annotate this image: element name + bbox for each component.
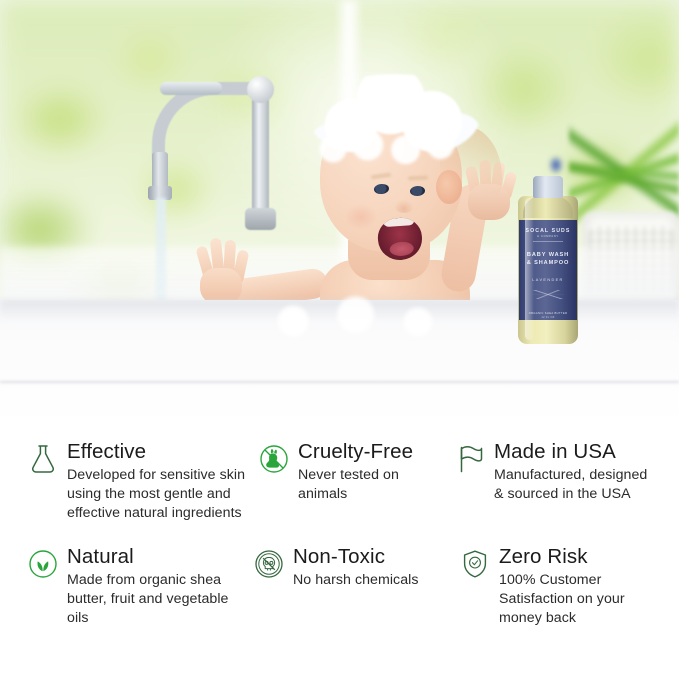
feature-title: Made in USA [494,440,659,464]
hero-photo: SOCAL SUDS & COMPANY BABY WASH & SHAMPOO… [0,0,679,424]
no-skull-icon [252,547,286,581]
feature-desc: Developed for sensitive skin using the m… [67,466,257,523]
baby-left-hand [194,234,246,304]
feature-desc: Made from organic shea butter, fruit and… [67,571,252,628]
no-rabbit-icon [257,442,291,476]
product-bottle: SOCAL SUDS & COMPANY BABY WASH & SHAMPOO… [517,176,579,344]
baby-ear [436,170,462,204]
baby-brow-left [371,173,391,180]
feature-desc: Never tested on animals [298,466,413,504]
feature-title: Zero Risk [499,545,667,569]
flask-icon [26,442,60,476]
feature-title: Effective [67,440,257,464]
baby-eye-right [410,185,426,196]
feature-desc: No harsh chemicals [293,571,458,590]
baby-eye-left [374,183,390,195]
soap-foam-edge [314,132,472,166]
bath-bubbles [250,296,490,338]
bottle-cap [533,176,563,198]
sink-edge-line [0,381,679,384]
baby-cheek [344,204,378,230]
feature-cruelty-free: Cruelty-Free Never tested on animals [257,440,453,523]
label-divider [533,241,563,242]
shield-check-icon [458,547,492,581]
baby-brow-right [408,175,428,180]
feature-desc: Manufactured, designed & sourced in the … [494,466,659,504]
product-infographic: SOCAL SUDS & COMPANY BABY WASH & SHAMPOO… [0,0,679,679]
feature-title: Natural [67,545,252,569]
faucet-spout [152,82,262,160]
feature-title: Cruelty-Free [298,440,413,464]
feature-zero-risk: Zero Risk 100% Customer Satisfaction on … [458,545,658,628]
feature-row-1: Effective Developed for sensitive skin u… [26,440,653,523]
feature-effective: Effective Developed for sensitive skin u… [26,440,257,523]
blue-flower [548,155,564,175]
lavender-sprig-icon [532,290,564,299]
feature-natural: Natural Made from organic shea butter, f… [26,545,252,628]
feature-non-toxic: Non-Toxic No harsh chemicals [252,545,458,628]
bottle-gloss [525,198,534,340]
feature-row-2: Natural Made from organic shea butter, f… [26,545,653,628]
baby-nose [394,200,414,213]
faucet-downspout [152,152,168,188]
leaf-circle-icon [26,547,60,581]
flag-icon [453,442,487,476]
faucet-handle [252,88,269,220]
feature-panel: Effective Developed for sensitive skin u… [0,424,679,679]
feature-made-in-usa: Made in USA Manufactured, designed & sou… [453,440,653,523]
feature-title: Non-Toxic [293,545,458,569]
feature-desc: 100% Customer Satisfaction on your money… [499,571,667,628]
